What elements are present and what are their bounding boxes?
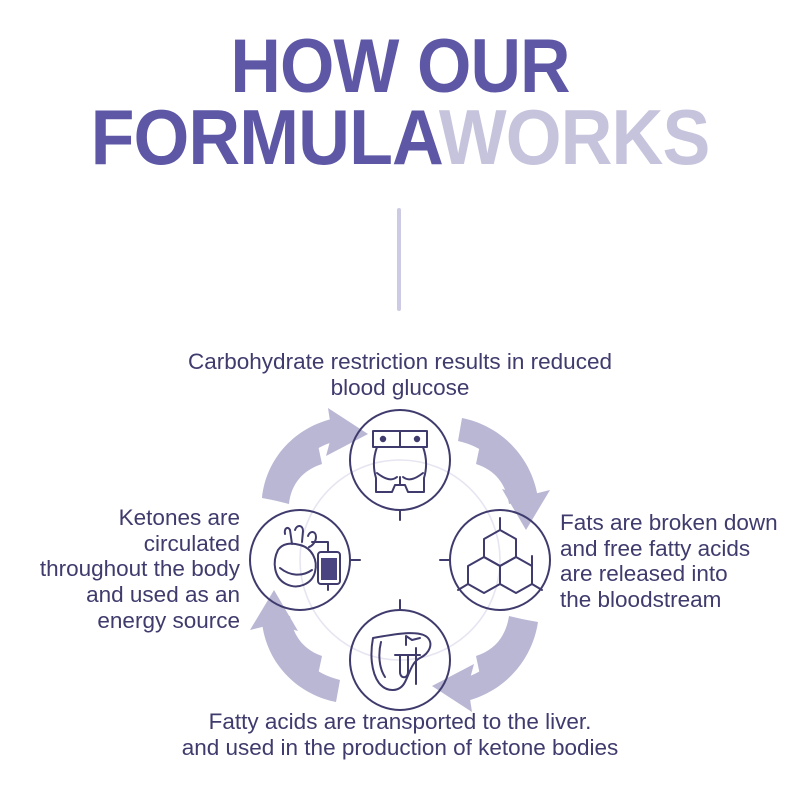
vertical-divider <box>397 208 401 311</box>
page-title: HOW OUR FORMULAWORKS <box>0 32 800 174</box>
title-word-formula: FORMULA <box>91 93 439 181</box>
step-text-fat-breakdown: Fats are broken down and free fatty acid… <box>560 510 800 613</box>
step-text-liver-ketone-production: Fatty acids are transported to the liver… <box>100 709 700 760</box>
formula-cycle-diagram <box>240 400 560 720</box>
heart-iv-bag-icon <box>275 526 340 590</box>
cycle-node-torso[interactable] <box>350 410 450 520</box>
cycle-node-liver[interactable] <box>350 600 450 710</box>
cycle-node-heart-iv[interactable] <box>250 510 360 610</box>
liver-icon <box>371 633 430 690</box>
arrow-left-to-top <box>262 408 368 504</box>
step-text-carbohydrate-restriction: Carbohydrate restriction results in redu… <box>100 349 700 400</box>
arrow-bottom-to-left <box>250 590 340 702</box>
title-line-one: HOW OUR <box>32 32 768 102</box>
arrow-top-to-right <box>458 418 550 530</box>
title-line-two: FORMULAWORKS <box>32 102 768 174</box>
arrow-right-to-bottom <box>432 616 538 712</box>
cycle-node-molecule[interactable] <box>440 510 550 610</box>
step-text-ketone-circulation: Ketones are circulated throughout the bo… <box>0 505 240 633</box>
title-word-works: WORKS <box>439 93 709 181</box>
